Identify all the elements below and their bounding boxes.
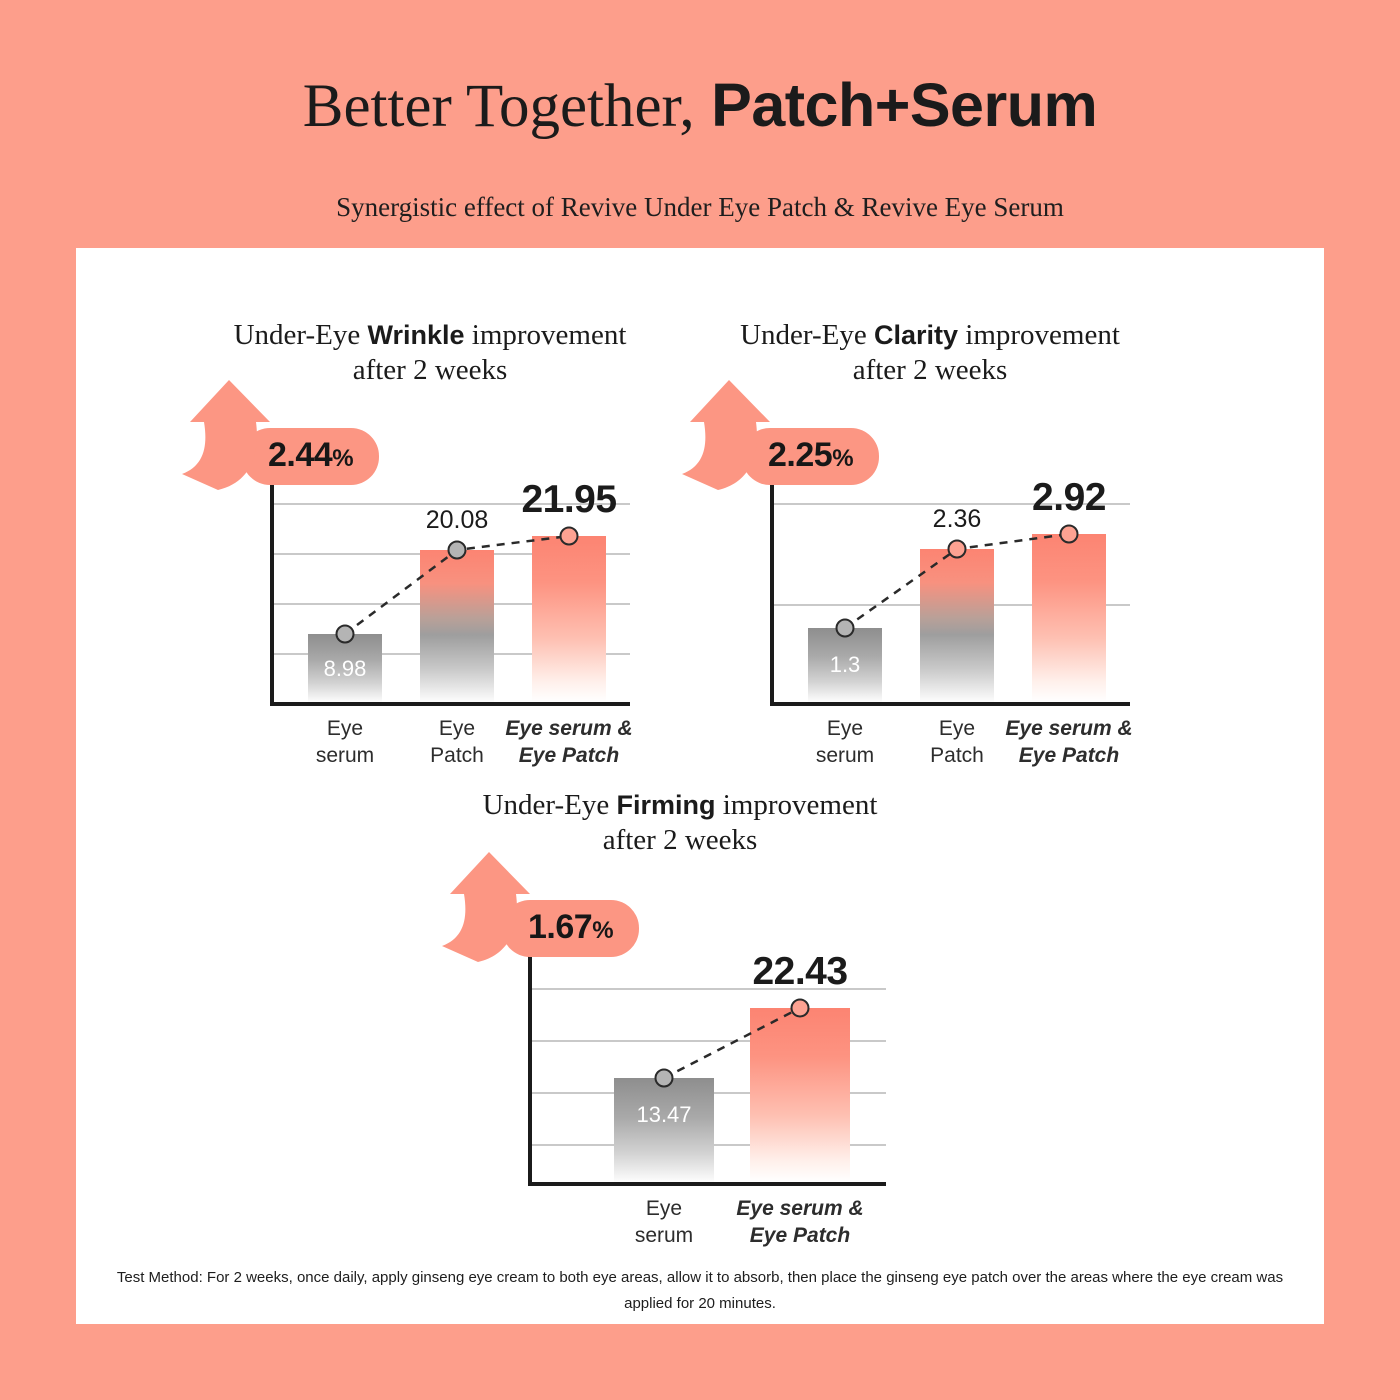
value-label-combo: 22.43 — [752, 950, 847, 994]
title-suffix: improvement — [716, 789, 878, 821]
page-subtitle: Synergistic effect of Revive Under Eye P… — [0, 192, 1400, 223]
category-label-combo: Eye serum & Eye Patch — [505, 716, 632, 770]
plot-clarity: 1.3 2.36 2.92 Eye serum Eye Patch Eye se… — [770, 472, 1130, 706]
category-label-eye-serum: Eye serum — [635, 1196, 693, 1250]
title-prefix: Under-Eye — [483, 789, 617, 821]
title-suffix: improvement — [465, 319, 627, 351]
title-line2: after 2 weeks — [853, 354, 1008, 386]
title-prefix: Under-Eye — [740, 319, 874, 351]
badge-unit: % — [592, 917, 613, 944]
plot-firming: 13.47 22.43 Eye serum Eye serum & Eye Pa… — [528, 946, 886, 1186]
title-line2: after 2 weeks — [603, 824, 758, 856]
category-label-eye-serum: Eye serum — [316, 716, 374, 770]
badge-value: 2.25 — [768, 436, 832, 474]
trend-polyline — [664, 1008, 800, 1078]
category-label-eye-patch: Eye Patch — [930, 716, 984, 770]
badge-value: 2.44 — [268, 436, 332, 474]
growth-arrow-firming — [442, 850, 532, 962]
infographic-page: Better Together, Patch+Serum Synergistic… — [0, 0, 1400, 1400]
page-title-serif: Better Together, — [303, 73, 695, 140]
badge-unit: % — [332, 445, 353, 472]
title-line2: after 2 weeks — [353, 354, 508, 386]
chart-wrinkle: Under-Eye Wrinkle improvement after 2 we… — [160, 318, 700, 768]
data-point-eye-serum — [336, 625, 355, 644]
data-point-eye-patch — [448, 541, 467, 560]
growth-arrow-wrinkle — [182, 378, 272, 490]
footnote: Test Method: For 2 weeks, once daily, ap… — [110, 1265, 1290, 1318]
badge-value: 1.67 — [528, 908, 592, 946]
value-label-eye-patch: 20.08 — [426, 506, 489, 535]
page-title-bold: Patch+Serum — [695, 71, 1098, 139]
category-label-eye-patch: Eye Patch — [430, 716, 484, 770]
category-label-combo: Eye serum & Eye Patch — [1005, 716, 1132, 770]
arrow-shape — [182, 380, 270, 490]
data-point-combo — [560, 527, 579, 546]
category-label-combo: Eye serum & Eye Patch — [736, 1196, 863, 1250]
data-point-eye-serum — [836, 619, 855, 638]
title-keyword: Firming — [617, 790, 716, 820]
data-point-combo — [1060, 525, 1079, 544]
title-keyword: Wrinkle — [367, 320, 464, 350]
arrow-shape — [682, 380, 770, 490]
title-prefix: Under-Eye — [234, 319, 368, 351]
value-label-combo: 21.95 — [521, 478, 616, 522]
data-point-combo — [791, 999, 810, 1018]
data-point-eye-patch — [948, 540, 967, 559]
title-suffix: improvement — [958, 319, 1120, 351]
category-label-eye-serum: Eye serum — [816, 716, 874, 770]
badge-unit: % — [832, 445, 853, 472]
value-label-eye-patch: 2.36 — [933, 505, 982, 534]
arrow-shape — [442, 852, 530, 962]
chart-firming-title: Under-Eye Firming improvement after 2 we… — [410, 788, 950, 859]
chart-clarity: Under-Eye Clarity improvement after 2 we… — [660, 318, 1200, 768]
footnote-line-1: Test Method: For 2 weeks, once daily, ap… — [117, 1269, 1153, 1286]
growth-arrow-clarity — [682, 378, 772, 490]
page-title: Better Together, Patch+Serum — [0, 70, 1400, 142]
chart-firming: Under-Eye Firming improvement after 2 we… — [410, 788, 950, 1248]
plot-wrinkle: 8.98 20.08 21.95 Eye serum Eye Patch — [270, 472, 630, 706]
title-keyword: Clarity — [874, 320, 958, 350]
value-label-combo: 2.92 — [1032, 476, 1106, 520]
data-point-eye-serum — [655, 1069, 674, 1088]
